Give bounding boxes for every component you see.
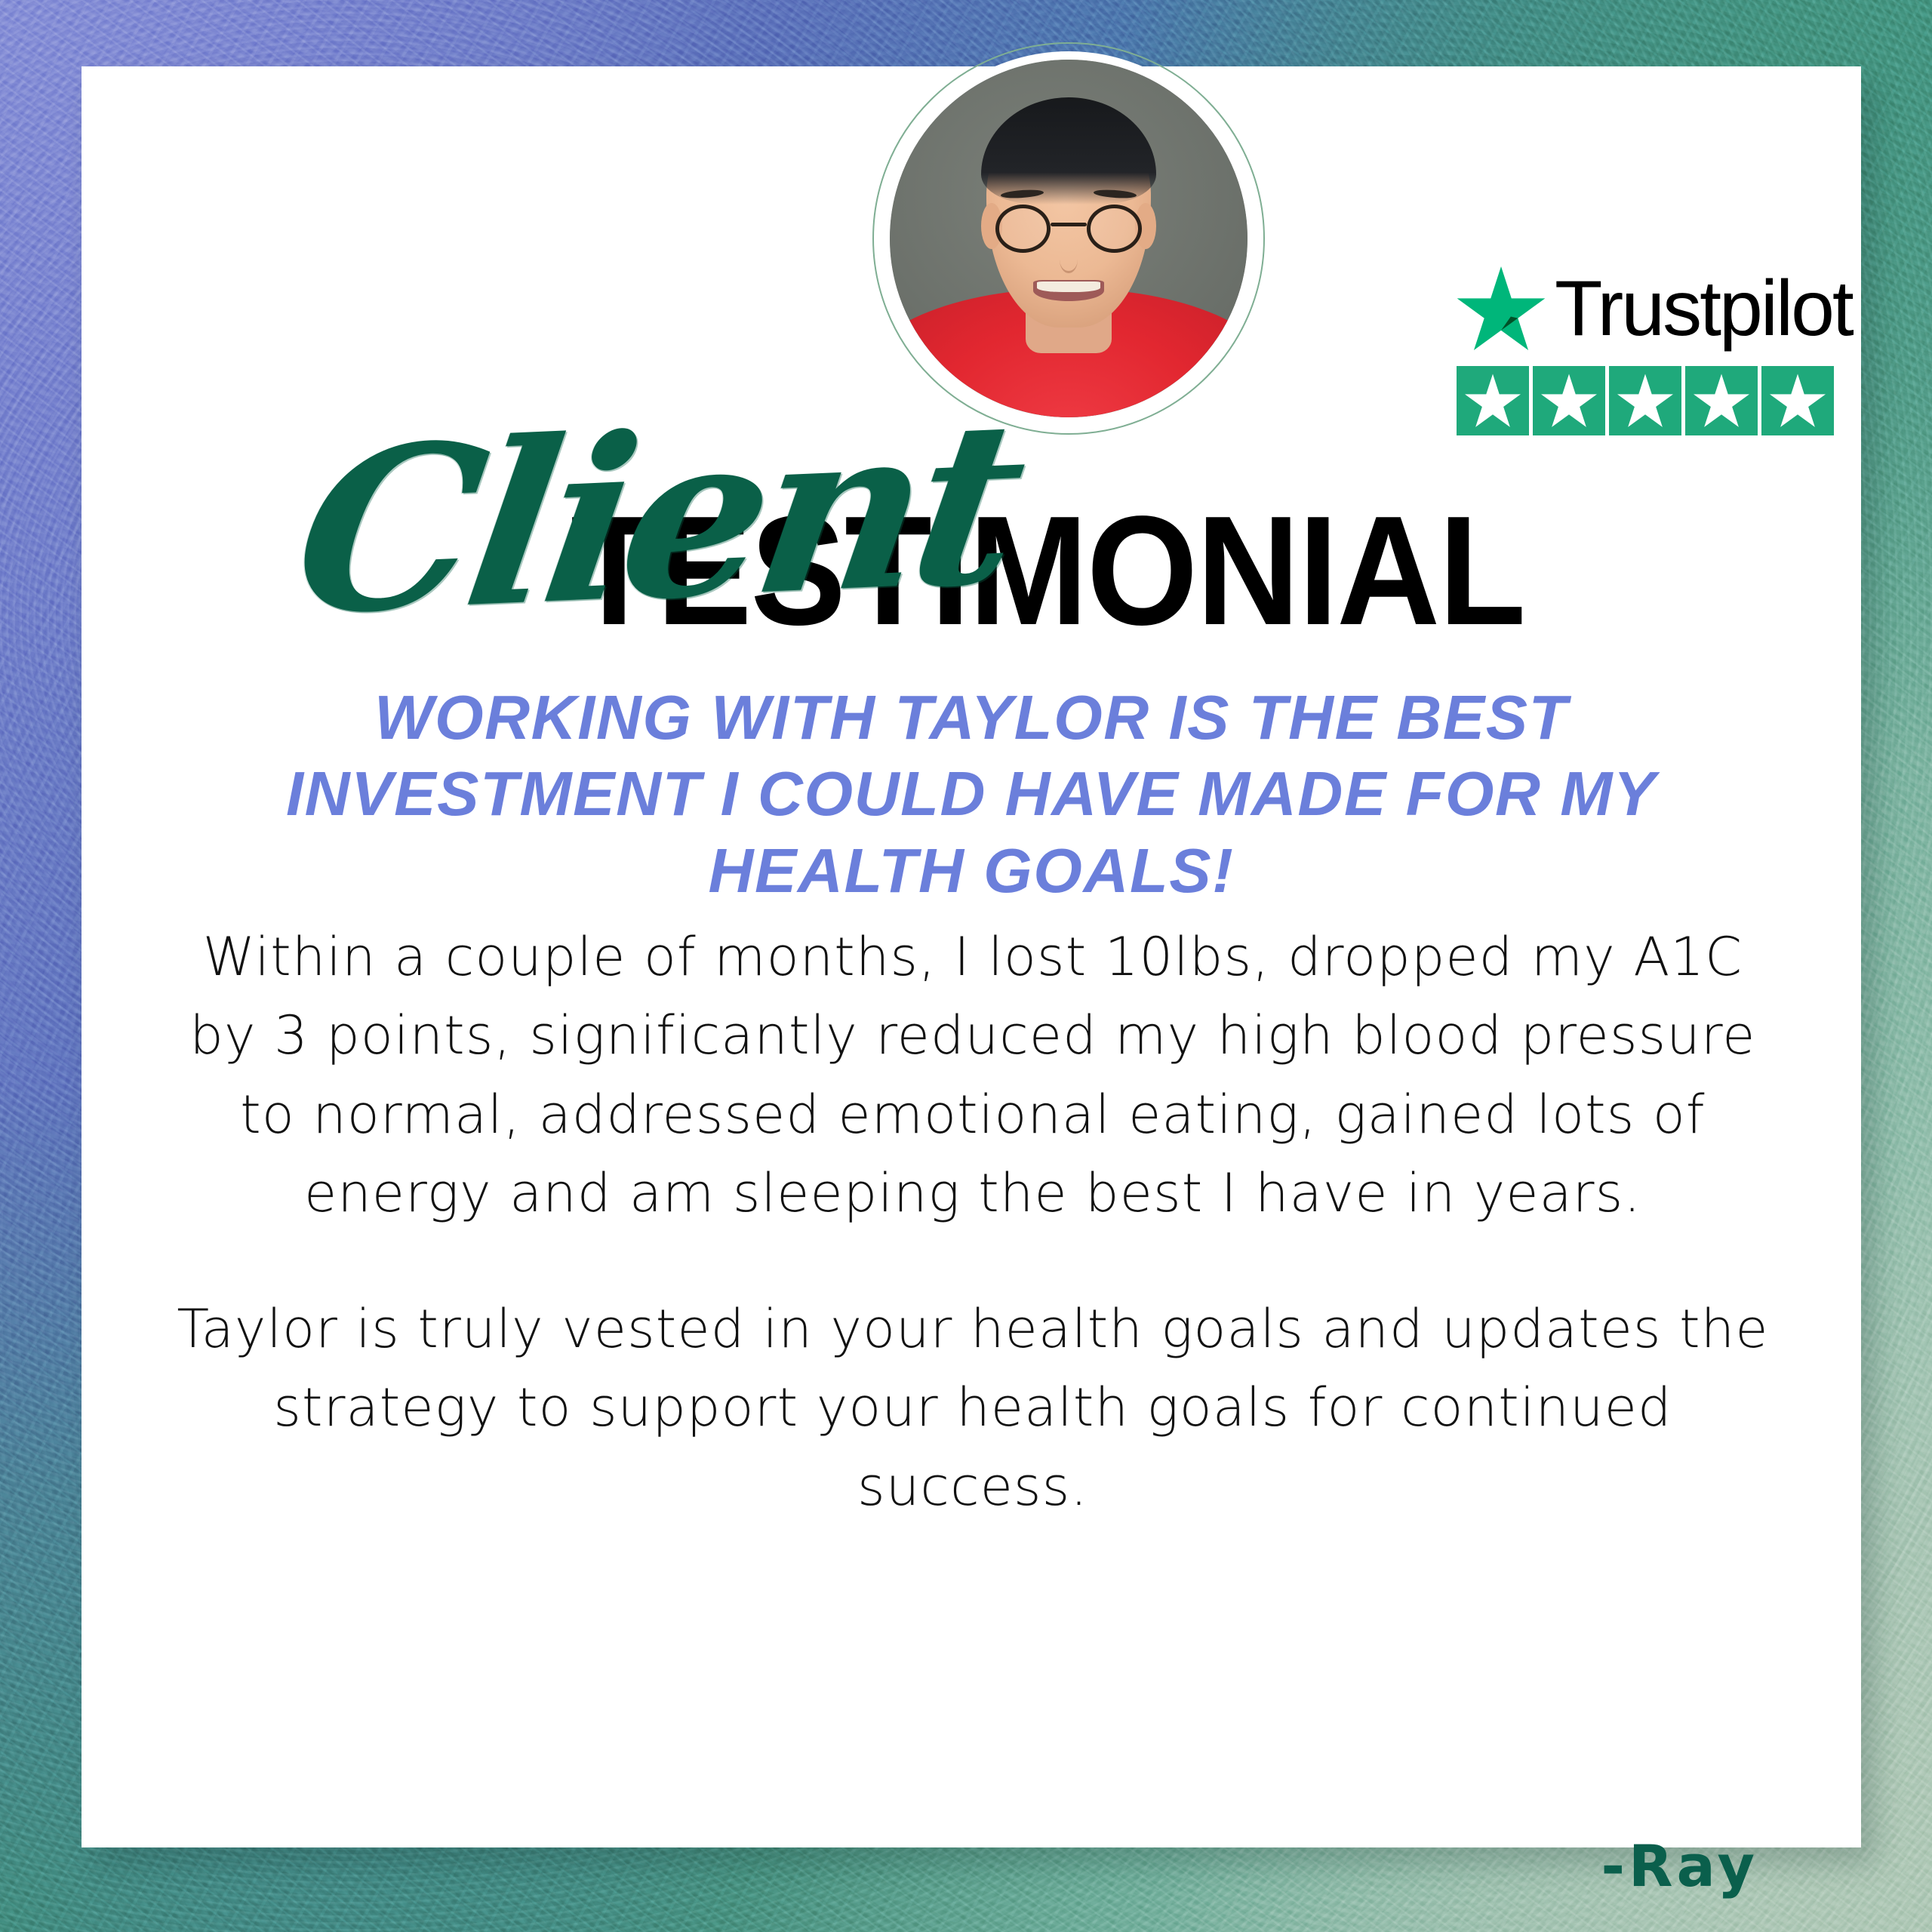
avatar-nose (1060, 245, 1078, 272)
testimonial-headline: Working with Taylor is the best investme… (178, 679, 1764, 909)
avatar-glasses-lens-left (995, 205, 1051, 253)
avatar-photo (890, 60, 1247, 417)
avatar-glasses-lens-right (1087, 205, 1142, 253)
testimonial-graphic: Trustpilot T (0, 0, 1932, 1932)
trustpilot-badge: Trustpilot (1457, 264, 1846, 435)
avatar-glasses-bridge (1051, 223, 1086, 226)
testimonial-paragraph-2: Taylor is truly vested in your health go… (177, 1290, 1769, 1526)
testimonial-body: Within a couple of months, I lost 10lbs,… (177, 918, 1769, 1526)
testimonial-signature: -Ray (1601, 1832, 1758, 1900)
trustpilot-logo-row: Trustpilot (1457, 264, 1846, 353)
page-title: TESTIMONIAL Client (82, 420, 1861, 646)
trustpilot-star-icon (1457, 266, 1546, 351)
avatar-mouth (1033, 280, 1105, 301)
testimonial-paragraph-1: Within a couple of months, I lost 10lbs,… (177, 918, 1769, 1232)
paragraph-spacer (177, 1232, 1769, 1290)
title-client: Client (284, 390, 1029, 646)
avatar-teeth (1037, 281, 1100, 292)
trustpilot-wordmark: Trustpilot (1555, 269, 1852, 348)
avatar-photo-frame (881, 51, 1256, 426)
testimonial-card: Trustpilot T (82, 66, 1861, 1847)
